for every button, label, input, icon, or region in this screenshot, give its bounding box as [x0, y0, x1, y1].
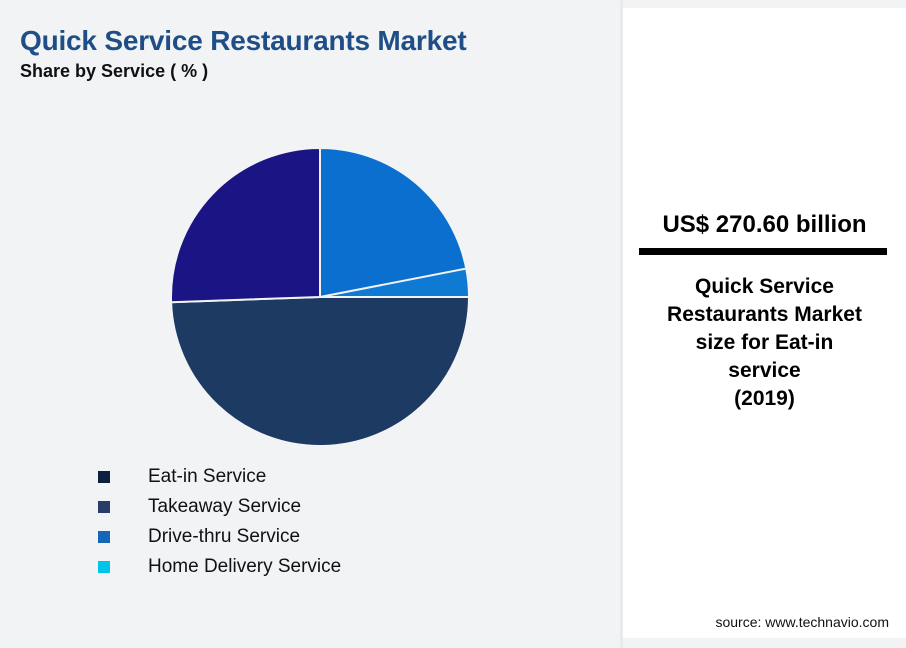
legend-swatch-icon [98, 471, 110, 483]
pie-slice[interactable] [171, 148, 320, 302]
legend-item[interactable]: Home Delivery Service [98, 552, 518, 582]
callout-divider [639, 248, 887, 255]
pie-chart [160, 138, 480, 458]
callout-description-line: size for Eat-in [643, 329, 886, 357]
pie-chart-svg [160, 138, 480, 458]
chart-infographic: Quick Service Restaurants Market Share b… [0, 0, 906, 648]
legend-item[interactable]: Drive-thru Service [98, 522, 518, 552]
chart-panel: Quick Service Restaurants Market Share b… [0, 0, 620, 648]
callout-description: Quick ServiceRestaurants Marketsize for … [643, 273, 886, 413]
legend-item-label: Takeaway Service [148, 496, 301, 518]
legend-swatch-icon [98, 501, 110, 513]
panel-bottom-divider [623, 638, 906, 648]
callout-panel: US$ 270.60 billion Quick ServiceRestaura… [620, 0, 906, 648]
callout-description-line: (2019) [643, 385, 886, 413]
chart-subtitle: Share by Service ( % ) [20, 61, 208, 82]
callout-value: US$ 270.60 billion [643, 208, 886, 242]
legend-item[interactable]: Eat-in Service [98, 462, 518, 492]
legend-item-label: Home Delivery Service [148, 556, 341, 578]
legend-swatch-icon [98, 531, 110, 543]
callout-description-line: Restaurants Market [643, 301, 886, 329]
legend-item-label: Eat-in Service [148, 466, 266, 488]
legend-swatch-icon [98, 561, 110, 573]
panel-top-divider [623, 0, 906, 8]
callout-description-line: Quick Service [643, 273, 886, 301]
page-title: Quick Service Restaurants Market [20, 25, 466, 57]
callout-description-line: service [643, 357, 886, 385]
source-note: source: www.technavio.com [623, 614, 889, 630]
pie-slice-group [171, 148, 469, 446]
legend: Eat-in Service Takeaway Service Drive-th… [98, 462, 518, 582]
callout-block: US$ 270.60 billion Quick ServiceRestaura… [643, 208, 886, 413]
legend-item-label: Drive-thru Service [148, 526, 300, 548]
legend-item[interactable]: Takeaway Service [98, 492, 518, 522]
pie-slice[interactable] [171, 297, 469, 446]
